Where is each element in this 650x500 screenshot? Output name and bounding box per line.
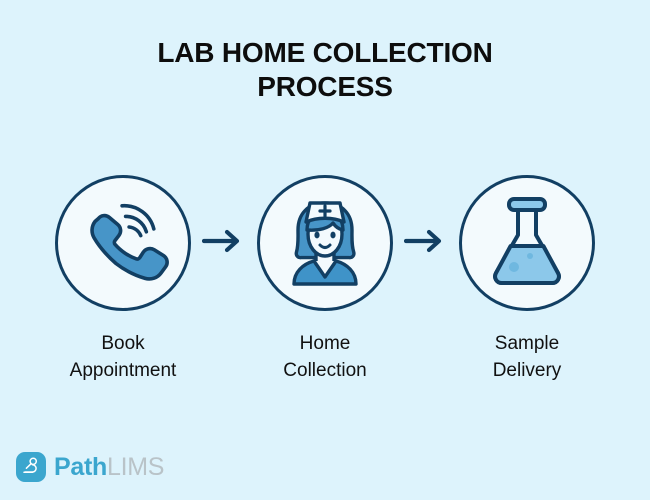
step-2-circle	[257, 175, 393, 311]
step-home-collection	[252, 175, 398, 311]
logo-name-bold: Path	[54, 453, 107, 481]
logo-badge	[16, 452, 46, 482]
process-steps-row	[0, 168, 650, 318]
title-line-2: PROCESS	[0, 70, 650, 104]
caption-3-line-2: Delivery	[454, 357, 600, 384]
caption-sample-delivery: Sample Delivery	[454, 330, 600, 384]
caption-1-line-1: Book	[50, 330, 196, 357]
step-book-appointment	[50, 175, 196, 311]
step-3-circle	[459, 175, 595, 311]
caption-home-collection: Home Collection	[252, 330, 398, 384]
arrow-right-icon	[202, 228, 246, 259]
microscope-badge-icon	[21, 455, 41, 480]
title-line-1: LAB HOME COLLECTION	[0, 36, 650, 70]
flask-icon	[481, 193, 573, 294]
step-sample-delivery	[454, 175, 600, 311]
caption-1-line-2: Appointment	[50, 357, 196, 384]
step-captions-row: Book Appointment Home Collection Sample …	[0, 330, 650, 384]
logo-name-light: LIMS	[107, 453, 164, 481]
arrow-2	[398, 228, 454, 259]
page-title: LAB HOME COLLECTION PROCESS	[0, 36, 650, 104]
brand-logo: PathLIMS	[16, 452, 164, 482]
logo-wordmark: PathLIMS	[54, 455, 164, 480]
nurse-icon	[273, 189, 377, 298]
caption-2-line-2: Collection	[252, 357, 398, 384]
phone-call-icon	[77, 195, 169, 292]
caption-3-line-1: Sample	[454, 330, 600, 357]
step-1-circle	[55, 175, 191, 311]
caption-spacer-2	[398, 330, 454, 384]
arrow-1	[196, 228, 252, 259]
infographic-canvas: LAB HOME COLLECTION PROCESS	[0, 0, 650, 500]
caption-spacer-1	[196, 330, 252, 384]
arrow-right-icon	[404, 228, 448, 259]
caption-2-line-1: Home	[252, 330, 398, 357]
caption-book-appointment: Book Appointment	[50, 330, 196, 384]
